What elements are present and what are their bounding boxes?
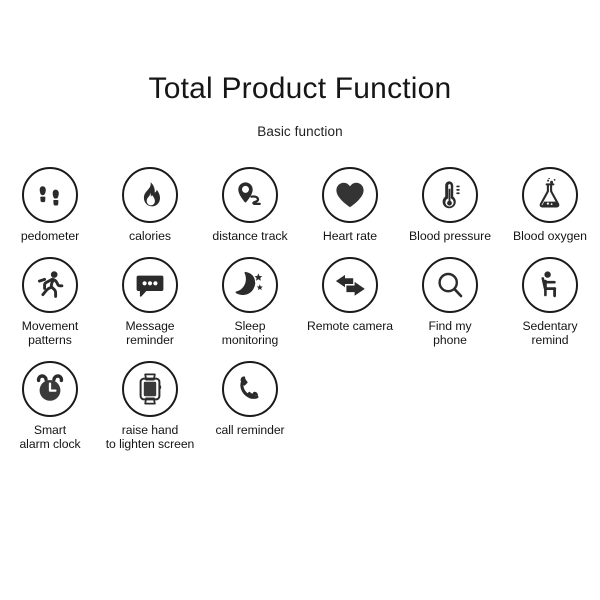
- speech-bubble-icon: [122, 257, 178, 313]
- page-subtitle: Basic function: [0, 105, 600, 139]
- feature-item-raise-hand-to-lighten-screen[interactable]: raise hand to lighten screen: [100, 361, 200, 452]
- thermometer-icon: [422, 167, 478, 223]
- map-pin-route-icon: [222, 167, 278, 223]
- feature-label: Message reminder: [98, 319, 202, 348]
- flame-icon: [122, 167, 178, 223]
- feature-item-calories[interactable]: calories: [100, 167, 200, 244]
- heart-icon: [322, 167, 378, 223]
- feature-item-blood-pressure[interactable]: Blood pressure: [400, 167, 500, 244]
- poster-header: Total Product Function Basic function: [0, 0, 600, 139]
- running-person-icon: [22, 257, 78, 313]
- feature-label: Blood oxygen: [498, 229, 600, 244]
- page-title: Total Product Function: [0, 72, 600, 105]
- feature-label: Heart rate: [298, 229, 402, 244]
- feature-item-distance-track[interactable]: distance track: [200, 167, 300, 244]
- feature-label: Find my phone: [398, 319, 502, 348]
- feature-row: Movement patterns Message reminder: [0, 257, 600, 348]
- feature-row: pedometer calories: [0, 167, 600, 244]
- flask-icon: [522, 167, 578, 223]
- feature-grid: pedometer calories: [0, 167, 600, 452]
- feature-item-sleep-monitoring[interactable]: Sleep monitoring: [200, 257, 300, 348]
- magnifier-icon: [422, 257, 478, 313]
- feature-item-pedometer[interactable]: pedometer: [0, 167, 100, 244]
- feature-label: pedometer: [0, 229, 102, 244]
- feature-label: raise hand to lighten screen: [98, 423, 202, 452]
- feature-row: Smart alarm clock raise hand to lighten …: [0, 361, 600, 452]
- product-function-poster: Total Product Function Basic function pe…: [0, 0, 600, 600]
- feature-item-message-reminder[interactable]: Message reminder: [100, 257, 200, 348]
- feature-label: Movement patterns: [0, 319, 102, 348]
- feature-label: Sedentary remind: [498, 319, 600, 348]
- feature-item-remote-camera[interactable]: Remote camera: [300, 257, 400, 334]
- feature-item-heart-rate[interactable]: Heart rate: [300, 167, 400, 244]
- feature-label: Smart alarm clock: [0, 423, 102, 452]
- seated-person-icon: [522, 257, 578, 313]
- feature-item-movement-patterns[interactable]: Movement patterns: [0, 257, 100, 348]
- feature-item-sedentary-remind[interactable]: Sedentary remind: [500, 257, 600, 348]
- feature-label: Remote camera: [298, 319, 402, 334]
- feature-label: Blood pressure: [398, 229, 502, 244]
- alarm-clock-icon: [22, 361, 78, 417]
- footprints-icon: [22, 167, 78, 223]
- phone-handset-icon: [222, 361, 278, 417]
- feature-label: calories: [98, 229, 202, 244]
- feature-label: Sleep monitoring: [198, 319, 302, 348]
- feature-item-blood-oxygen[interactable]: Blood oxygen: [500, 167, 600, 244]
- feature-item-smart-alarm-clock[interactable]: Smart alarm clock: [0, 361, 100, 452]
- smartwatch-icon: [122, 361, 178, 417]
- moon-stars-icon: [222, 257, 278, 313]
- feature-label: distance track: [198, 229, 302, 244]
- feature-label: call reminder: [198, 423, 302, 438]
- two-way-arrows-icon: [322, 257, 378, 313]
- feature-item-call-reminder[interactable]: call reminder: [200, 361, 300, 438]
- feature-item-find-my-phone[interactable]: Find my phone: [400, 257, 500, 348]
